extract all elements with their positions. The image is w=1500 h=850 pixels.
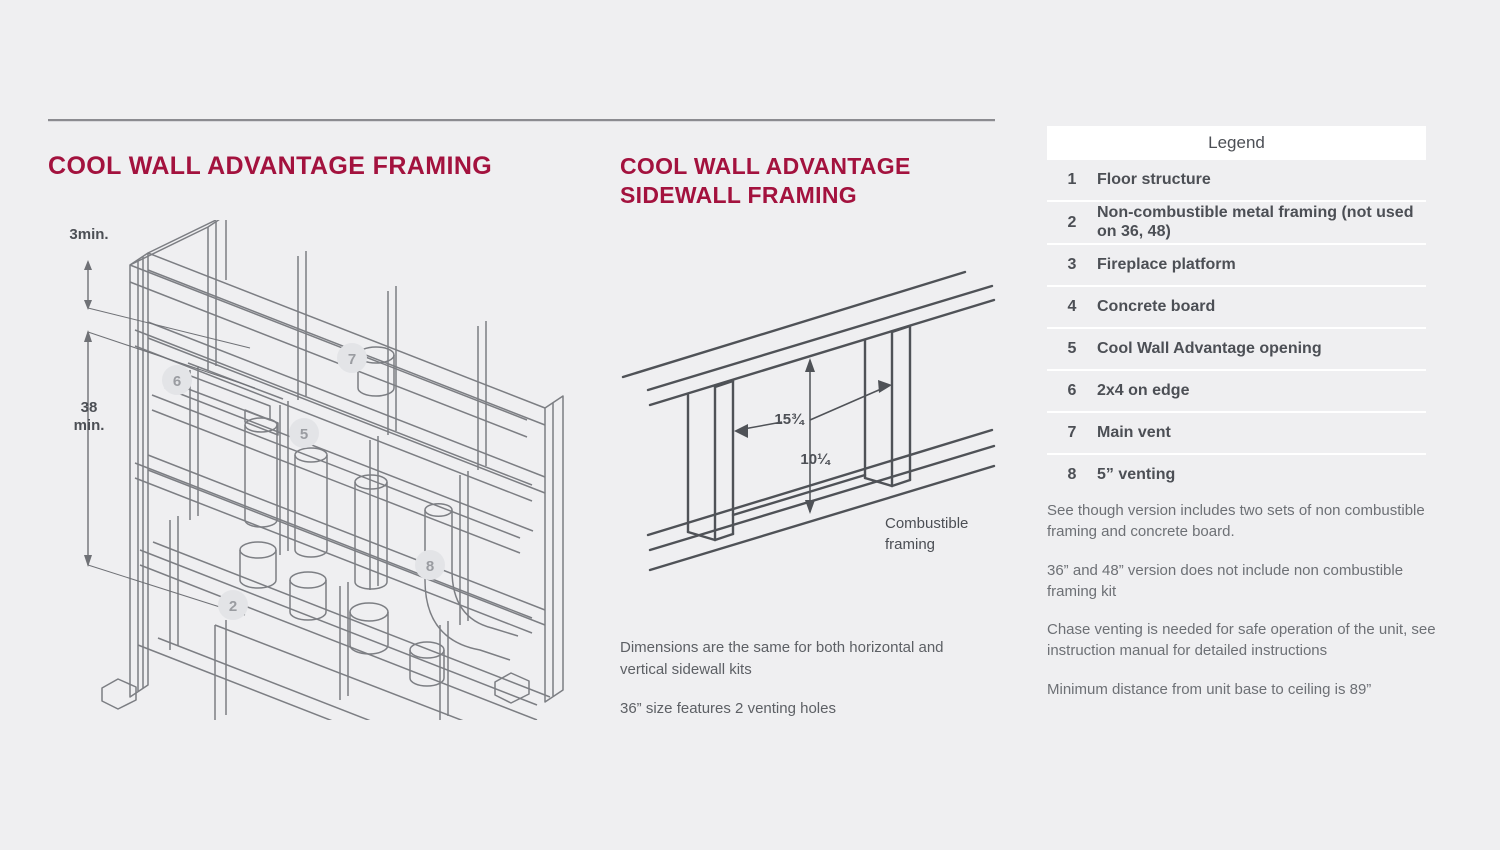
svg-text:7: 7 <box>348 351 356 368</box>
combustible-framing-line-2: framing <box>885 536 935 553</box>
legend-number: 7 <box>1047 424 1097 442</box>
note-see-though-version: See though version includes two sets of … <box>1047 500 1447 543</box>
legend-label: Main vent <box>1097 424 1179 443</box>
svg-text:8: 8 <box>426 558 434 575</box>
svg-text:2: 2 <box>229 598 237 615</box>
legend-label: Floor structure <box>1097 171 1219 190</box>
page-title-sidewall: COOL WALL ADVANTAGE SIDEWALL FRAMING <box>620 152 1000 211</box>
legend-item-1: 1 Floor structure <box>1047 160 1426 202</box>
legend-item-2: 2 Non-combustible metal framing (not use… <box>1047 202 1426 245</box>
legend-number: 3 <box>1047 256 1097 274</box>
note-36-48-version: 36” and 48” version does not include non… <box>1047 560 1447 603</box>
caption-venting-holes: 36” size features 2 venting holes <box>620 698 995 720</box>
page-title-framing: COOL WALL ADVANTAGE FRAMING <box>48 152 608 181</box>
legend-item-7: 7 Main vent <box>1047 413 1426 455</box>
callout-7: 7 <box>337 343 367 373</box>
legend-item-6: 6 2x4 on edge <box>1047 371 1426 413</box>
header-divider <box>48 119 995 122</box>
legend-label: 5” venting <box>1097 466 1183 485</box>
sidewall-title-line-1: COOL WALL ADVANTAGE <box>620 153 911 179</box>
legend-item-4: 4 Concrete board <box>1047 287 1426 329</box>
legend-label: Cool Wall Advantage opening <box>1097 340 1330 359</box>
svg-text:6: 6 <box>173 373 181 390</box>
cool-wall-framing-drawing: 6 7 5 8 2 <box>40 220 600 720</box>
dimension-38min-value: 38 <box>81 399 98 416</box>
legend-number: 1 <box>1047 171 1097 189</box>
dimension-10-1-4: 10¼ <box>786 451 844 469</box>
notes-list: See though version includes two sets of … <box>1047 500 1447 717</box>
callout-5: 5 <box>289 418 319 448</box>
dimension-15-3-4: 15¾ <box>758 411 820 429</box>
dimension-38min-unit: min. <box>74 417 105 434</box>
legend-label: Non-combustible metal framing (not used … <box>1097 204 1426 241</box>
legend-item-3: 3 Fireplace platform <box>1047 245 1426 287</box>
svg-text:5: 5 <box>300 426 308 443</box>
dimension-38min: 38 min. <box>54 399 124 434</box>
dimension-3min: 3min. <box>57 226 121 244</box>
note-chase-venting: Chase venting is needed for safe operati… <box>1047 619 1447 662</box>
callout-2: 2 <box>218 590 248 620</box>
legend-panel: Legend 1 Floor structure 2 Non-combustib… <box>1047 126 1426 495</box>
legend-number: 6 <box>1047 382 1097 400</box>
legend-number: 8 <box>1047 466 1097 484</box>
legend-number: 2 <box>1047 214 1097 232</box>
callout-8: 8 <box>415 550 445 580</box>
legend-item-8: 8 5” venting <box>1047 455 1426 495</box>
legend-title: Legend <box>1047 126 1426 160</box>
combustible-framing-line-1: Combustible <box>885 515 968 532</box>
sidewall-title-line-2: SIDEWALL FRAMING <box>620 182 857 208</box>
legend-label: Fireplace platform <box>1097 256 1244 275</box>
legend-label: 2x4 on edge <box>1097 382 1197 401</box>
sidewall-captions: Dimensions are the same for both horizon… <box>620 637 995 736</box>
legend-item-5: 5 Cool Wall Advantage opening <box>1047 329 1426 371</box>
callout-6: 6 <box>162 365 192 395</box>
legend-number: 4 <box>1047 298 1097 316</box>
legend-number: 5 <box>1047 340 1097 358</box>
callout-bubbles: 6 7 5 8 2 <box>162 343 445 620</box>
diagram-page: COOL WALL ADVANTAGE FRAMING COOL WALL AD… <box>0 0 1500 850</box>
caption-dimensions: Dimensions are the same for both horizon… <box>620 637 995 681</box>
note-minimum-distance: Minimum distance from unit base to ceili… <box>1047 679 1447 700</box>
combustible-framing-label: Combustible framing <box>885 513 1005 556</box>
legend-label: Concrete board <box>1097 298 1223 317</box>
